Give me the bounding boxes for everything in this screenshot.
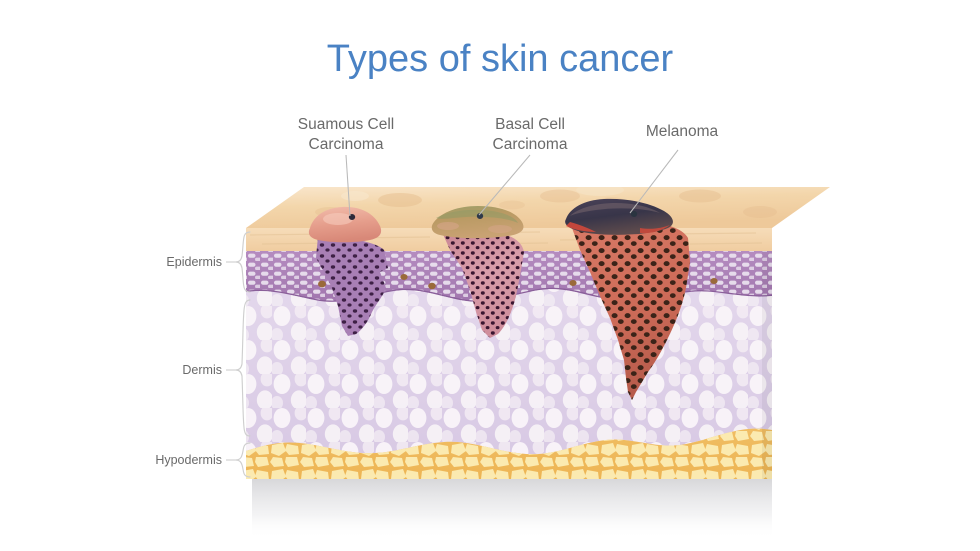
layer-annotations: Epidermis Dermis Hypodermis xyxy=(155,232,250,477)
layer-annotation-hypodermis: Hypodermis xyxy=(155,443,250,477)
layer-annotation-dermis: Dermis xyxy=(182,300,250,436)
layer-annotation-epidermis: Epidermis xyxy=(166,232,250,292)
callout-squamous-line2: Carcinoma xyxy=(309,136,384,153)
callout-basal-line1: Basal Cell xyxy=(495,116,565,133)
callout-squamous-line1: Suamous Cell xyxy=(298,116,395,133)
block-right-shading xyxy=(762,251,772,479)
callout-squamous-cell-carcinoma: Suamous Cell Carcinoma xyxy=(298,116,395,153)
layer-label-epidermis: Epidermis xyxy=(166,255,222,269)
melanoma-marker xyxy=(631,211,637,217)
layer-label-hypodermis: Hypodermis xyxy=(155,453,222,467)
layer-label-dermis: Dermis xyxy=(182,363,222,377)
callout-melanoma-line1: Melanoma xyxy=(646,123,719,140)
block-shadow xyxy=(252,479,772,539)
callout-melanoma: Melanoma xyxy=(646,123,719,140)
illustration-canvas: Types of skin cancer xyxy=(0,0,980,551)
skin-cancer-diagram: Types of skin cancer xyxy=(0,0,980,551)
callout-basal-cell-carcinoma: Basal Cell Carcinoma xyxy=(493,116,568,153)
page-title: Types of skin cancer xyxy=(327,38,674,80)
callout-basal-line2: Carcinoma xyxy=(493,136,568,153)
